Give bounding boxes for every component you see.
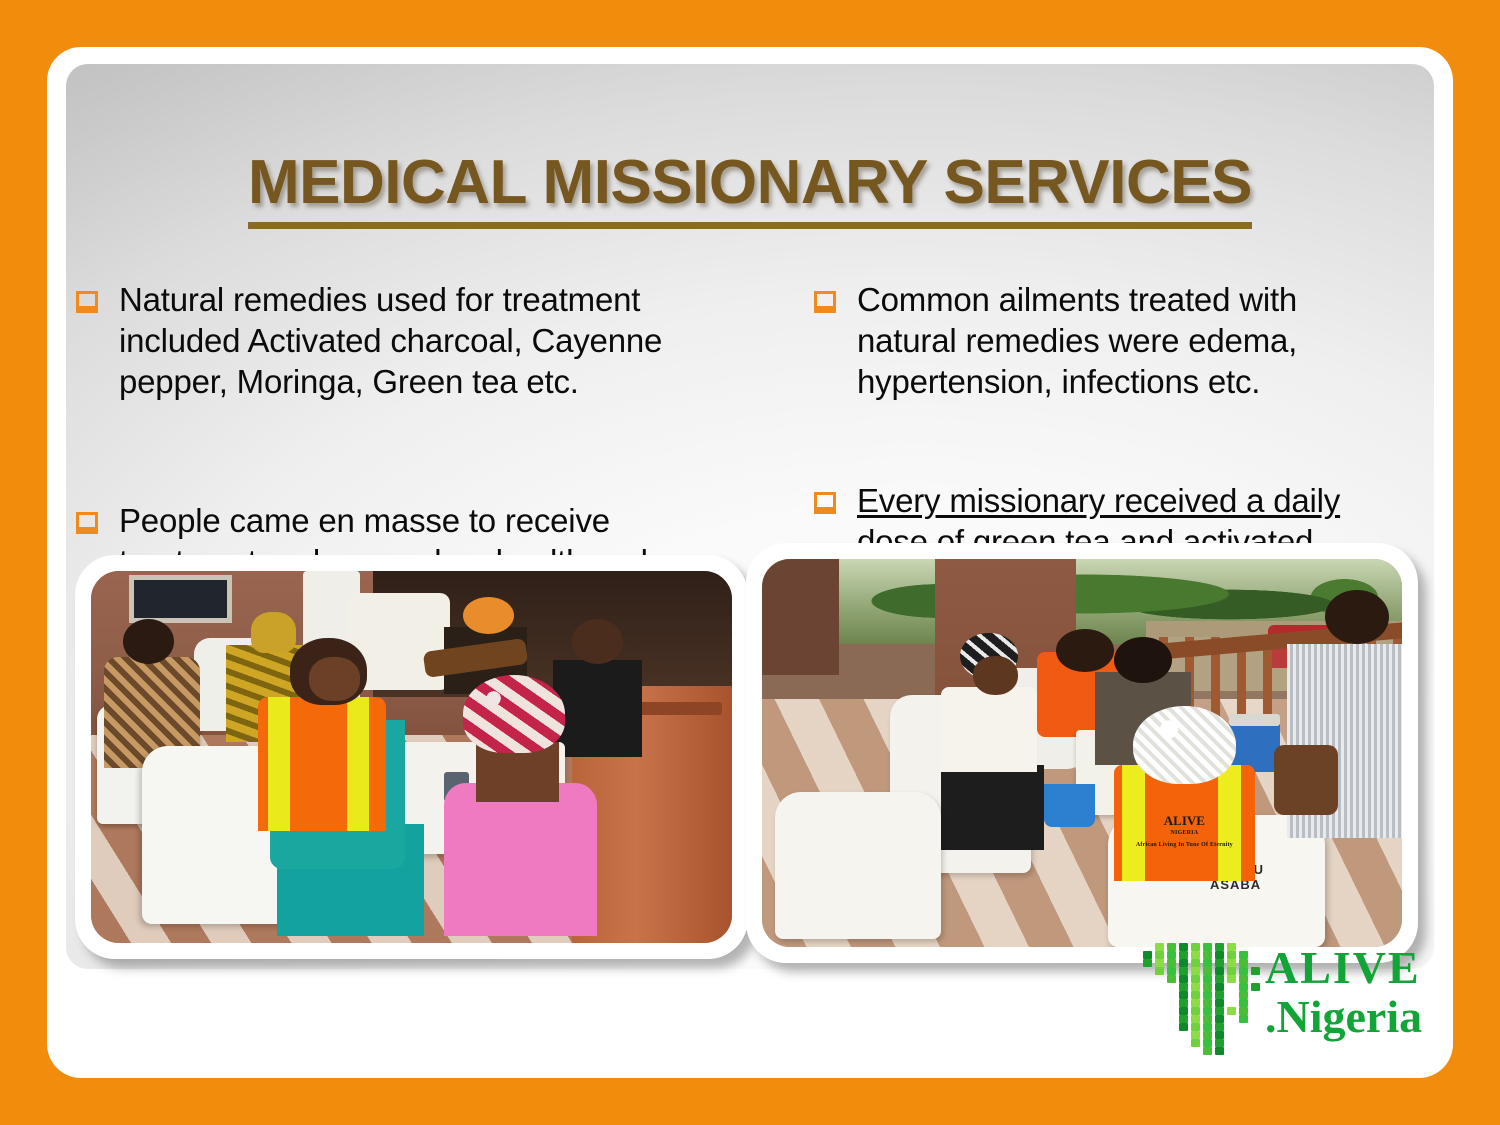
logo-line-nigeria: .Nigeria xyxy=(1265,993,1422,1041)
right-photo-image: O.O.D.U ASABA ALIVE NIGERIA African Livi… xyxy=(762,559,1402,947)
square-bullet-icon xyxy=(76,512,98,534)
left-photo-image xyxy=(91,571,732,943)
square-bullet-icon xyxy=(814,291,836,313)
right-photo[interactable]: O.O.D.U ASABA ALIVE NIGERIA African Livi… xyxy=(746,543,1418,963)
vest-label-sub: NIGERIA xyxy=(1133,827,1235,839)
vest-label-tagline: African Living In Tune Of Eternity xyxy=(1133,839,1235,851)
logo-line-alive: ALIVE xyxy=(1265,945,1422,991)
page-title-wrapper: MEDICAL MISSIONARY SERVICES xyxy=(66,150,1434,229)
logo-text: ALIVE .Nigeria xyxy=(1265,945,1422,1041)
left-photo[interactable] xyxy=(75,555,748,959)
bullet-text: Common ailments treated with natural rem… xyxy=(857,279,1354,402)
vest-label-main: ALIVE xyxy=(1164,813,1205,828)
spacer xyxy=(76,408,726,500)
square-bullet-icon xyxy=(76,291,98,313)
spacer xyxy=(814,408,1354,480)
square-bullet-icon xyxy=(814,492,836,514)
alive-nigeria-logo: ALIVE .Nigeria xyxy=(1143,943,1443,1058)
page-title: MEDICAL MISSIONARY SERVICES xyxy=(248,150,1252,229)
slide-root: MEDICAL MISSIONARY SERVICES Natural reme… xyxy=(0,0,1500,1125)
vest-label: ALIVE NIGERIA African Living In Tune Of … xyxy=(1133,815,1235,851)
list-item: Natural remedies used for treatment incl… xyxy=(76,279,726,402)
bullet-text: Natural remedies used for treatment incl… xyxy=(119,279,726,402)
list-item: Common ailments treated with natural rem… xyxy=(814,279,1354,402)
africa-pixel-map-icon xyxy=(1143,943,1263,1055)
